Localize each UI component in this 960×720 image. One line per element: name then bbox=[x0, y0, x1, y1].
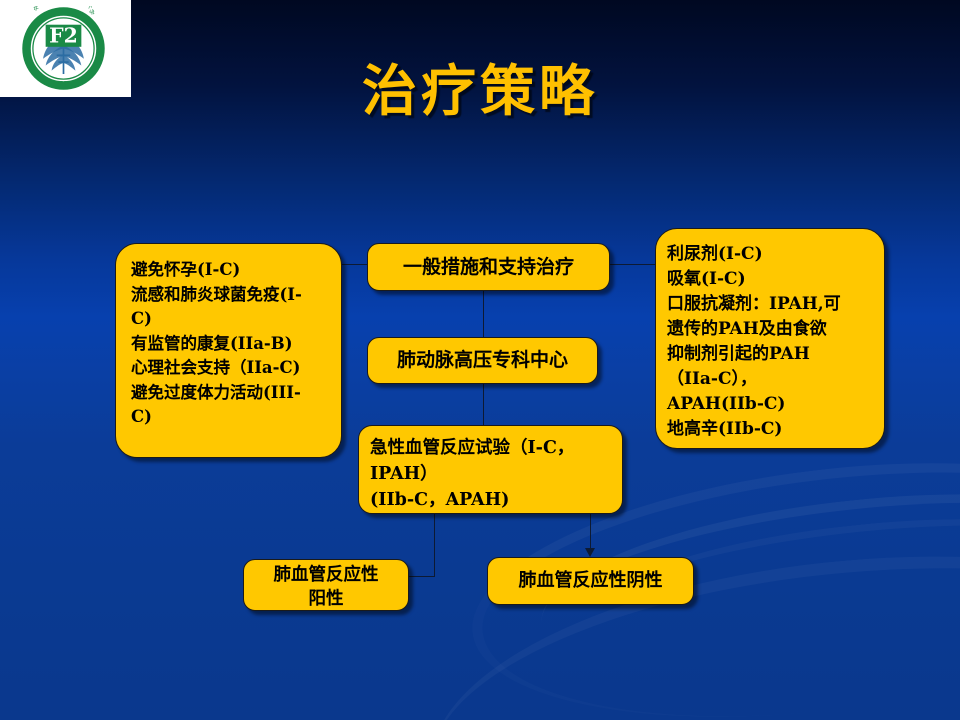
connector-vaso-to-positive-horizontal bbox=[409, 576, 435, 577]
supportive-drugs-box[interactable]: 利尿剂(I-C) 吸氧(I-C) 口服抗凝剂：IPAH,可 遗传的PAH及由食欲… bbox=[655, 228, 885, 449]
connector-vaso-to-positive-vertical bbox=[434, 514, 435, 576]
vasoreactive-negative-text: 肺血管反应性阴性 bbox=[488, 558, 693, 604]
vasoreactive-positive-text: 肺血管反应性 阳性 bbox=[244, 560, 408, 611]
vasoreactive-negative-box[interactable]: 肺血管反应性阴性 bbox=[487, 557, 694, 605]
supportive-drugs-text: 利尿剂(I-C) 吸氧(I-C) 口服抗凝剂：IPAH,可 遗传的PAH及由食欲… bbox=[656, 229, 884, 442]
connector-center-to-vaso bbox=[483, 384, 484, 425]
ph-expert-center-text: 肺动脉高压专科中心 bbox=[368, 338, 597, 383]
ph-expert-center-box[interactable]: 肺动脉高压专科中心 bbox=[367, 337, 598, 384]
acute-vasoreactivity-test-text: 急性血管反应试验（I-C， IPAH） (IIb-C，APAH) bbox=[359, 426, 622, 513]
connector-support-to-drugs bbox=[610, 264, 655, 265]
connector-support-to-center bbox=[483, 291, 484, 337]
connector-vaso-to-negative bbox=[590, 514, 591, 550]
background-swirl-arc bbox=[417, 523, 960, 720]
connector-measures-to-support bbox=[342, 264, 368, 265]
svg-text:F2: F2 bbox=[49, 24, 78, 48]
general-measures-box[interactable]: 避免怀孕(I-C) 流感和肺炎球菌免疫(I- C) 有监管的康复(IIa-B) … bbox=[115, 243, 342, 458]
vasoreactive-positive-box[interactable]: 肺血管反应性 阳性 bbox=[243, 559, 409, 611]
general-and-supportive-therapy-box[interactable]: 一般措施和支持治疗 bbox=[367, 243, 610, 291]
general-and-supportive-therapy-text: 一般措施和支持治疗 bbox=[368, 244, 609, 290]
page-title: 治疗策略 bbox=[0, 46, 960, 126]
arrowhead-to-negative bbox=[585, 548, 595, 557]
general-measures-text: 避免怀孕(I-C) 流感和肺炎球菌免疫(I- C) 有监管的康复(IIa-B) … bbox=[116, 244, 341, 430]
slide-canvas: F2 1984 中国人民解放军第二军医大学 治疗策略 避免怀孕(I-C) 流感和… bbox=[0, 0, 960, 720]
acute-vasoreactivity-test-box[interactable]: 急性血管反应试验（I-C， IPAH） (IIb-C，APAH) bbox=[358, 425, 623, 514]
